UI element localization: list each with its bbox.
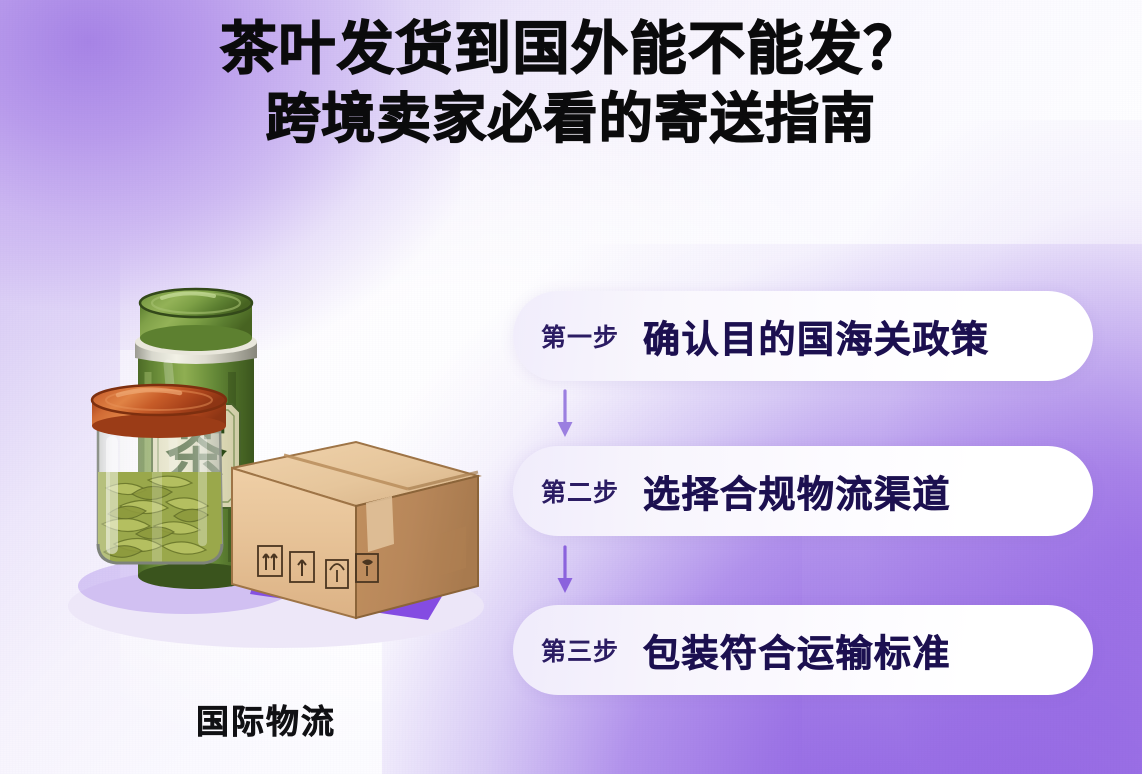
headline: 茶叶发货到国外能不能发？ 跨境卖家必看的寄送指南 (0, 14, 1142, 154)
step-3-index-label: 第三步 (541, 632, 619, 668)
steps-list: 第一步 确认目的国海关政策 第二步 选择合规物流渠道 第三步 包装符合运输标准 (513, 291, 1098, 701)
step-3-text: 包装符合运输标准 (643, 623, 951, 677)
step-2-text: 选择合规物流渠道 (643, 464, 951, 518)
step-item-1[interactable]: 第一步 确认目的国海关政策 (513, 291, 1093, 381)
arrow-down-icon-2 (554, 545, 576, 597)
poster-root: 茶叶发货到国外能不能发？ 跨境卖家必看的寄送指南 (0, 0, 1142, 774)
step-1-index-label: 第一步 (541, 318, 619, 354)
step-1-text: 确认目的国海关政策 (643, 309, 990, 363)
product-illustration: 茶 (36, 276, 496, 676)
step-item-2[interactable]: 第二步 选择合规物流渠道 (513, 446, 1093, 536)
illustration-svg: 茶 (36, 276, 496, 676)
shipping-box (232, 442, 478, 618)
illustration-caption: 国际物流 (36, 695, 496, 743)
step-item-3[interactable]: 第三步 包装符合运输标准 (513, 605, 1093, 695)
step-2-index-label: 第二步 (541, 473, 619, 509)
headline-line-2: 跨境卖家必看的寄送指南 (0, 84, 1142, 154)
tea-leaf-jar (92, 385, 226, 567)
arrow-down-icon-1 (554, 389, 576, 441)
headline-line-1: 茶叶发货到国外能不能发？ (0, 14, 1142, 84)
